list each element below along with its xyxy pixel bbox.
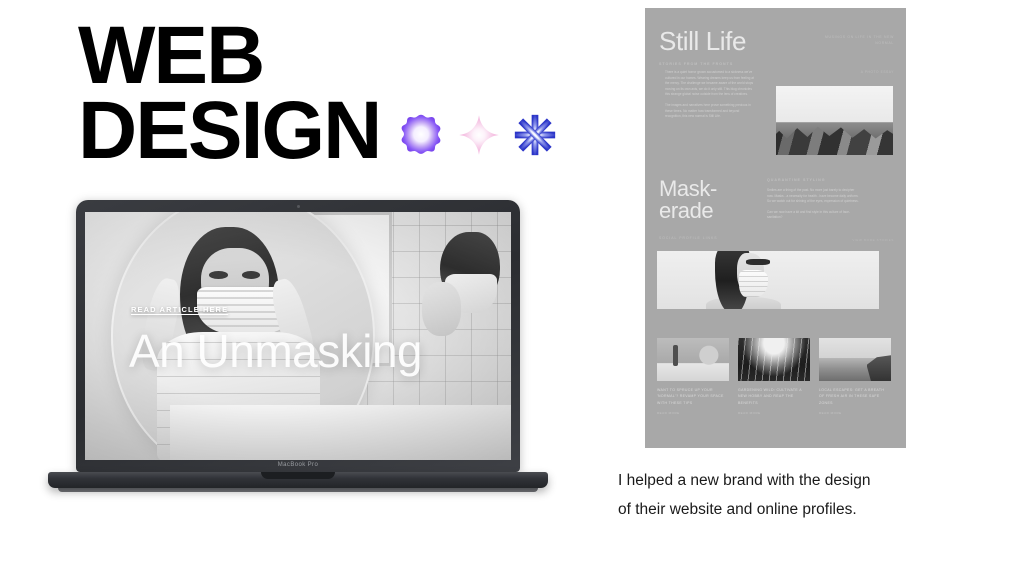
laptop-lid: READ ARTICLE HERE An Unmasking MacBook P… xyxy=(76,200,520,472)
screen-headline: An Unmasking xyxy=(129,324,422,378)
webpanel-body2-para-1: Smiles are a thing of the past. No more … xyxy=(767,188,859,205)
headline-line-1: WEB xyxy=(78,18,638,93)
read-article-link[interactable]: READ ARTICLE HERE xyxy=(131,305,228,314)
webpanel-body: There is a quiet horror grown accustomed… xyxy=(665,70,755,125)
slide-canvas: WEB DESIGN xyxy=(0,0,1024,576)
webpanel-body-para-2: The images and narratives here prove som… xyxy=(665,103,755,120)
laptop-mockup: READ ARTICLE HERE An Unmasking MacBook P… xyxy=(48,200,548,500)
list-item[interactable]: GARDENING WILD: CULTIVATE A NEW HOBBY AN… xyxy=(738,338,810,415)
webpanel-body-para-1: There is a quiet horror grown accustomed… xyxy=(665,70,755,98)
webpanel-thumbnail-row: WANT TO SPRUCE UP YOUR 'NORMAL'? REVAMP … xyxy=(657,338,893,415)
webpanel-body-2: Smiles are a thing of the past. No more … xyxy=(767,188,859,226)
masked-woman-profile-photo xyxy=(657,251,879,309)
webpanel-more-label[interactable]: VIEW MORE STORIES xyxy=(852,238,894,242)
webpanel-body2-para-2: Can we now have a kit and find style in … xyxy=(767,210,859,221)
coastal-cliff-photo xyxy=(819,338,891,381)
webpanel-side-label: A PHOTO ESSAY xyxy=(861,70,894,74)
decoration-group xyxy=(398,112,556,158)
webpanel-heading-2-line-1: Mask- xyxy=(659,178,717,200)
laptop-brand-label: MacBook Pro xyxy=(76,462,520,468)
webpanel-nav-text[interactable]: MUSINGS ON LIFE IN THE NEW NORMAL xyxy=(820,34,894,47)
thumbnail-read-more[interactable]: READ MORE xyxy=(657,411,729,415)
laptop-screen: READ ARTICLE HERE An Unmasking xyxy=(85,212,511,460)
project-caption: I helped a new brand with the design of … xyxy=(618,466,938,525)
blue-starburst-icon xyxy=(514,114,556,156)
webpanel-kicker-2: QUARANTINE STYLING xyxy=(767,178,826,182)
page-title: WEB DESIGN xyxy=(78,18,638,169)
headline-line-2: DESIGN xyxy=(78,93,380,168)
list-item[interactable]: WANT TO SPRUCE UP YOUR 'NORMAL'? REVAMP … xyxy=(657,338,729,415)
thumbnail-read-more[interactable]: READ MORE xyxy=(738,411,810,415)
webpanel-heading-2: Mask- erade xyxy=(659,178,717,222)
screen-text-overlay: READ ARTICLE HERE An Unmasking xyxy=(85,212,511,460)
thumbnail-caption: LOCAL ESCAPES: GET A BREATH OF FRESH AIR… xyxy=(819,387,891,406)
webpanel-social-label[interactable]: SOCIAL PROFILE LINKS xyxy=(659,236,718,240)
webpanel-heading-2-line-2: erade xyxy=(659,200,717,222)
thumbnail-read-more[interactable]: READ MORE xyxy=(819,411,891,415)
thumbnail-caption: WANT TO SPRUCE UP YOUR 'NORMAL'? REVAMP … xyxy=(657,387,729,406)
headline-row-2: DESIGN xyxy=(78,93,638,168)
webcam-icon xyxy=(297,205,300,208)
website-mockup-panel: Still Life MUSINGS ON LIFE IN THE NEW NO… xyxy=(645,8,906,448)
thumbnail-caption: GARDENING WILD: CULTIVATE A NEW HOBBY AN… xyxy=(738,387,810,406)
webpanel-kicker: STORIES FROM THE FRONTS xyxy=(659,62,733,66)
mountain-landscape-photo xyxy=(776,86,893,155)
laptop-base xyxy=(48,472,548,488)
list-item[interactable]: LOCAL ESCAPES: GET A BREATH OF FRESH AIR… xyxy=(819,338,891,415)
still-life-vase-photo xyxy=(657,338,729,381)
pink-sparkle-icon xyxy=(458,114,500,156)
caption-line-1: I helped a new brand with the design xyxy=(618,466,938,495)
laptop-foot xyxy=(58,488,538,492)
caption-line-2: of their website and online profiles. xyxy=(618,495,938,524)
wildflower-garden-photo xyxy=(738,338,810,381)
webpanel-heading: Still Life xyxy=(659,26,746,57)
laptop-notch xyxy=(261,472,335,479)
purple-blob-icon xyxy=(398,112,444,158)
